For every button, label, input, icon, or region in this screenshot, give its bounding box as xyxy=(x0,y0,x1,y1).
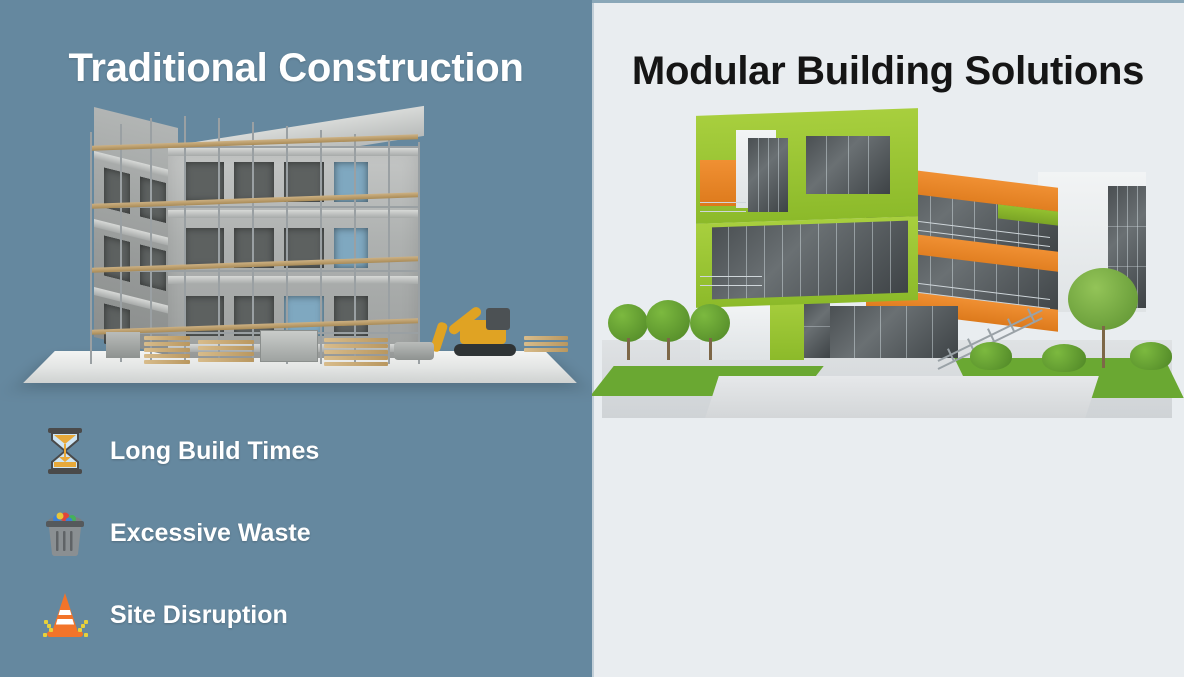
traditional-construction-illustration xyxy=(0,108,592,408)
front-entry-glass xyxy=(804,300,830,358)
lumber-stack xyxy=(198,340,254,364)
tree xyxy=(608,304,648,360)
construction-building xyxy=(88,110,508,372)
lumber-stack xyxy=(324,338,388,368)
module-glass-corner-mid xyxy=(712,221,908,300)
tree xyxy=(690,304,730,360)
list-item[interactable]: Site Disruption xyxy=(38,588,458,642)
module-orange-top-accent xyxy=(700,160,736,206)
comparison-slide: Traditional Construction xyxy=(0,0,1184,677)
module-glass-top-right xyxy=(806,136,890,194)
right-panel-modular-building-solutions: Modular Building Solutions xyxy=(592,0,1184,677)
traditional-drawbacks-list: Long Build Times xyxy=(38,424,458,670)
concrete-block-stack xyxy=(260,330,318,362)
left-panel-traditional-construction: Traditional Construction xyxy=(0,0,592,677)
bush xyxy=(1130,342,1172,370)
list-item-label: Excessive Waste xyxy=(110,519,311,547)
balcony-railing xyxy=(700,276,762,286)
right-panel-title: Modular Building Solutions xyxy=(592,47,1184,95)
trash-can-icon xyxy=(38,506,92,560)
excavator xyxy=(440,300,524,362)
material-pile xyxy=(394,342,434,360)
front-green-column xyxy=(770,296,804,360)
list-item[interactable]: Long Build Times xyxy=(38,424,458,478)
material-pile xyxy=(106,332,140,358)
left-panel-title: Traditional Construction xyxy=(0,44,592,92)
modular-building xyxy=(638,108,1158,358)
balcony-railing-top xyxy=(700,202,746,212)
hourglass-icon xyxy=(38,424,92,478)
lumber-stack xyxy=(144,336,190,366)
list-item-label: Site Disruption xyxy=(110,601,288,629)
list-item-label: Long Build Times xyxy=(110,437,319,465)
list-item[interactable]: Excessive Waste xyxy=(38,506,458,560)
walkway xyxy=(705,376,1099,418)
bush xyxy=(1042,344,1086,372)
tree xyxy=(646,300,690,360)
module-glass-top-left xyxy=(748,138,788,212)
lumber-stack xyxy=(524,336,568,354)
bush xyxy=(970,342,1012,370)
modular-building-illustration xyxy=(592,108,1184,423)
traffic-cone-icon xyxy=(38,588,92,642)
